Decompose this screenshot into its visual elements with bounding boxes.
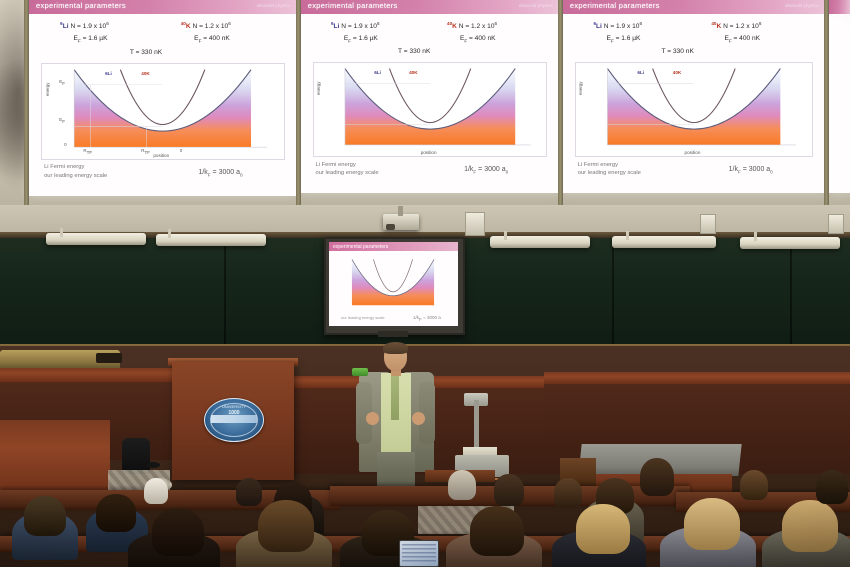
- lithium-param: 6Li N = 1.9 x 106: [331, 21, 380, 30]
- front-demo-bench: [0, 368, 176, 382]
- lithium-param: 6Li N = 1.9 x 106: [60, 21, 109, 30]
- green-object-on-bench: [352, 368, 368, 376]
- curve-label-lithium: 6Li: [374, 70, 381, 79]
- curve-label-potassium: 40K: [673, 70, 681, 79]
- slide-parameters: 6Li N = 1.9 x 106 40K N = 1.2 x 106 EF =…: [28, 18, 296, 62]
- trap-potential-plot: energy position 6Li 40K: [575, 62, 813, 157]
- lithium-fermi-energy: EF = 1.6 µK: [607, 35, 641, 43]
- footer-line-1: Li Fermi energy: [315, 161, 547, 169]
- audience-head: [782, 500, 838, 552]
- audience-head: [236, 478, 262, 506]
- wall-control-box-1: [465, 212, 485, 236]
- wall-control-box-3: [828, 214, 844, 234]
- plot-svg: [42, 64, 283, 159]
- footer-line-2: our leading energy scale: [44, 172, 285, 180]
- footer-formula: 1/kF = 3000 a0: [464, 165, 508, 176]
- slide-body: 6Li N = 1.9 x 106 40K N = 1.2 x 106 EF =…: [28, 14, 296, 196]
- chalkboard-seam-3: [790, 238, 792, 346]
- institution-seal: UNIVERSITY 1000: [204, 398, 264, 442]
- ytick-zero: 0: [64, 142, 66, 147]
- lamp-arm-1: [60, 228, 63, 237]
- audience-head: [24, 496, 66, 536]
- monitor-footer-formula: 1/kF = 3000 a: [413, 315, 441, 322]
- slide-title-bar: experimental parameters ultracold physic…: [562, 0, 824, 14]
- lamp-arm-4: [626, 231, 629, 240]
- potassium-fermi-energy: EF = 400 nK: [724, 35, 760, 43]
- plot-svg: [576, 63, 812, 156]
- monitor-slide-title-bar: experimental parameters: [329, 242, 458, 251]
- audience-head: [144, 478, 168, 504]
- audience-head: [494, 474, 524, 506]
- slide-title-bar: [828, 0, 850, 14]
- potassium-fermi-energy: EF = 400 nK: [194, 35, 230, 43]
- projected-slide-panel-3: experimental parameters ultracold physic…: [562, 0, 824, 193]
- curve-label-potassium: 40K: [409, 70, 417, 79]
- chalkboard-seam-1: [224, 238, 226, 346]
- bench-top-right: [544, 372, 850, 384]
- projector-lens-icon: [386, 224, 395, 230]
- seal-year: 1000: [205, 410, 263, 416]
- xtick-li: RTF: [83, 148, 92, 155]
- slide-title: experimental parameters: [570, 1, 660, 10]
- projector-mount: [398, 206, 403, 216]
- ytick-li: EF: [59, 79, 65, 86]
- apparatus-end-cap: [96, 353, 122, 363]
- speaker-legs: [377, 452, 415, 490]
- trap-potential-plot: energy position 6Li 40K: [313, 62, 547, 157]
- slide-credit: ultracold physics: [785, 3, 819, 8]
- plot-xlabel: position: [685, 150, 701, 155]
- plot-xlabel: position: [421, 150, 437, 155]
- fluorescent-lamp-2: [156, 234, 266, 246]
- slide-parameters: 6Li N = 1.9 x 106 40K N = 1.2 x 106 EF =…: [300, 17, 558, 60]
- audience-laptop-screen[interactable]: [399, 540, 439, 567]
- plot-ylabel: energy: [45, 83, 50, 96]
- trap-potential-plot: energy position EF EF 0 RTF RTF 0 6Li 40…: [41, 63, 284, 160]
- slide-title: experimental parameters: [36, 1, 126, 10]
- footer-line-1: Li Fermi energy: [578, 161, 814, 169]
- screen-divider-1: [296, 0, 301, 212]
- lithium-fermi-energy: EF = 1.6 µK: [344, 35, 378, 43]
- audience-head: [740, 470, 768, 500]
- screen-divider-left: [24, 0, 29, 212]
- curve-label-lithium: 6Li: [105, 71, 112, 80]
- slide-parameters: 6Li N = 1.9 x 106 40K N = 1.2 x 106 EF =…: [562, 17, 824, 60]
- confidence-monitor: experimental parameters our leading ener…: [324, 237, 465, 335]
- lecture-hall-photo: experimental parameters ultracold physic…: [0, 0, 850, 567]
- slide-credit: ultracold physics: [257, 3, 291, 8]
- temperature-param: T = 330 nK: [398, 48, 430, 55]
- potassium-param: 40K N = 1.2 x 106: [447, 21, 497, 30]
- monitor-stand: [378, 331, 408, 337]
- speaker-tie: [391, 374, 399, 420]
- ytick-k: EF: [59, 117, 65, 124]
- overhead-projector-arm: [474, 400, 479, 450]
- audience-head: [96, 494, 136, 532]
- backpack-on-floor: [122, 438, 150, 474]
- temperature-param: T = 330 nK: [662, 48, 694, 55]
- seal-band: [211, 415, 257, 423]
- monitor-footer-line: our leading energy scale: [341, 315, 385, 320]
- footer-line-2: our leading energy scale: [315, 169, 547, 177]
- slide-title-bar: experimental parameters ultracold physic…: [300, 0, 558, 14]
- potassium-param: 40K N = 1.2 x 106: [711, 21, 761, 30]
- xtick-k: RTF: [141, 148, 150, 155]
- slide-credit: ultracold physics: [519, 3, 553, 8]
- seal-top-text: UNIVERSITY: [205, 404, 263, 409]
- slide-title-bar: experimental parameters ultracold physic…: [28, 0, 296, 14]
- audience-head: [816, 470, 848, 504]
- bag-strap: [146, 462, 160, 468]
- speaker-hand-right: [412, 412, 425, 425]
- slide-body: 6Li N = 1.9 x 106 40K N = 1.2 x 106 EF =…: [300, 14, 558, 193]
- slide-footer: Li Fermi energy our leading energy scale…: [315, 161, 547, 178]
- xtick-zero: 0: [180, 148, 182, 153]
- plot-ylabel: energy: [316, 81, 321, 94]
- curve-label-potassium: 40K: [141, 71, 149, 80]
- stage-wall-left: [0, 420, 110, 498]
- audience-head: [576, 504, 630, 554]
- audience-head: [258, 500, 314, 552]
- lithium-fermi-energy: EF = 1.6 µK: [74, 35, 108, 43]
- monitor-slide-title: experimental parameters: [333, 244, 388, 250]
- lamp-arm-2: [168, 229, 171, 238]
- temperature-param: T = 330 nK: [130, 49, 162, 56]
- wall-control-box-2: [700, 214, 716, 234]
- audience-head: [554, 478, 582, 508]
- footer-formula: 1/kF = 3000 a0: [198, 168, 242, 179]
- plot-ylabel: energy: [578, 81, 583, 94]
- lamp-arm-3: [504, 231, 507, 240]
- slide-footer: Li Fermi energy our leading energy scale…: [578, 161, 814, 178]
- slide-body: [828, 14, 850, 193]
- podium: UNIVERSITY 1000: [172, 362, 294, 480]
- audience-head: [684, 498, 740, 550]
- plot-xlabel: position: [153, 153, 169, 158]
- curve-label-lithium: 6Li: [637, 70, 644, 79]
- projected-slide-panel-1: experimental parameters ultracold physic…: [28, 0, 296, 196]
- footer-line-2: our leading energy scale: [578, 169, 814, 177]
- monitor-plot-svg: [337, 256, 449, 312]
- speaker-hair: [383, 342, 408, 354]
- slide-title: experimental parameters: [308, 1, 398, 10]
- screen-divider-2: [558, 0, 563, 212]
- projected-slide-panel-4-partial: [828, 0, 850, 193]
- chalkboard-seam-2: [612, 238, 614, 346]
- projected-slide-panel-2: experimental parameters ultracold physic…: [300, 0, 558, 193]
- audience-head: [448, 470, 476, 500]
- footer-line-1: Li Fermi energy: [44, 163, 285, 171]
- audience-head: [640, 458, 674, 496]
- speaker-hand-left: [366, 412, 379, 425]
- lamp-arm-5: [754, 232, 757, 241]
- audience-head: [470, 506, 524, 556]
- potassium-fermi-energy: EF = 400 nK: [460, 35, 496, 43]
- audience-head: [152, 508, 204, 556]
- monitor-screen: experimental parameters our leading ener…: [329, 242, 458, 326]
- footer-formula: 1/kF = 3000 a0: [729, 165, 773, 176]
- potassium-param: 40K N = 1.2 x 106: [181, 21, 231, 30]
- laptop-screen-content: [402, 544, 436, 562]
- slide-body: 6Li N = 1.9 x 106 40K N = 1.2 x 106 EF =…: [562, 14, 824, 193]
- lithium-param: 6Li N = 1.9 x 106: [593, 21, 642, 30]
- slide-footer: Li Fermi energy our leading energy scale…: [44, 163, 285, 180]
- screen-divider-3: [824, 0, 829, 212]
- plot-svg: [314, 63, 546, 156]
